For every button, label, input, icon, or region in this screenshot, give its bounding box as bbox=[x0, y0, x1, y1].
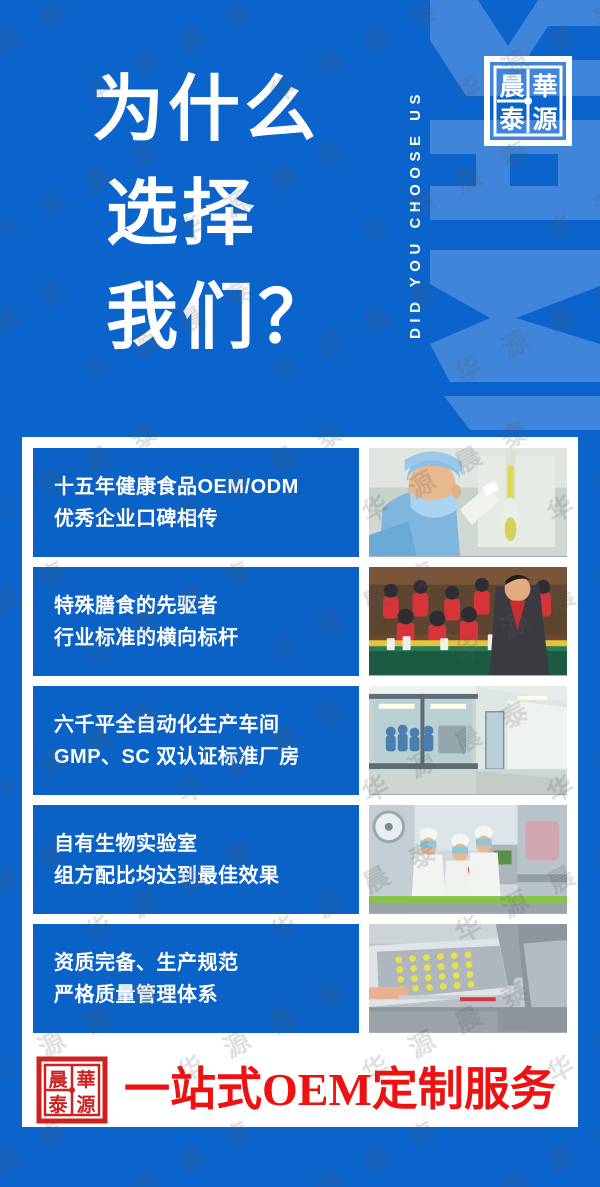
svg-text:晨: 晨 bbox=[499, 74, 525, 101]
feature-line-2: GMP、SC 双认证标准厂房 bbox=[54, 741, 359, 773]
features-list: 十五年健康食品OEM/ODM 优秀企业口碑相传 bbox=[33, 448, 567, 1033]
feature-row: 自有生物实验室 组方配比均达到最佳效果 bbox=[33, 805, 567, 914]
feature-text-card: 自有生物实验室 组方配比均达到最佳效果 bbox=[33, 805, 359, 914]
feature-line-2: 优秀企业口碑相传 bbox=[54, 503, 359, 535]
production-line-workers-photo bbox=[369, 805, 567, 914]
headline-line-1: 为什么 bbox=[92, 58, 392, 162]
svg-text:華: 華 bbox=[532, 73, 557, 101]
vertical-caption-text: DID YOU CHOOSE US bbox=[408, 89, 423, 339]
svg-text:晨: 晨 bbox=[48, 1069, 68, 1091]
watermark-text: 华 源 晨 泰 bbox=[0, 267, 81, 391]
feature-line-2: 组方配比均达到最佳效果 bbox=[54, 860, 359, 892]
feature-line-2: 严格质量管理体系 bbox=[54, 979, 359, 1011]
page-title: 为什么 选择 我们？ bbox=[92, 58, 392, 370]
features-panel: 十五年健康食品OEM/ODM 优秀企业口碑相传 bbox=[22, 437, 578, 1127]
bottom-banner: 晨 華 泰 源 一站式OEM定制服务 bbox=[22, 1052, 578, 1127]
conference-audience-photo bbox=[369, 567, 567, 676]
cleanroom-corridor-photo bbox=[369, 686, 567, 795]
watermark-text: 华 源 晨 泰 bbox=[0, 0, 81, 110]
vertical-caption: DID YOU CHOOSE US bbox=[402, 14, 428, 414]
feature-line-1: 六千平全自动化生产车间 bbox=[54, 709, 359, 741]
feature-line-1: 十五年健康食品OEM/ODM bbox=[54, 471, 359, 503]
svg-text:源: 源 bbox=[532, 106, 557, 134]
feature-row: 十五年健康食品OEM/ODM 优秀企业口碑相传 bbox=[33, 448, 567, 557]
svg-text:華: 華 bbox=[76, 1068, 95, 1091]
watermark-text: 华 源 晨 泰 bbox=[448, 267, 600, 391]
seal-icon-header: 晨 華 泰 源 bbox=[484, 55, 572, 147]
feature-line-2: 行业标准的横向标杆 bbox=[54, 622, 359, 654]
svg-text:泰: 泰 bbox=[47, 1093, 68, 1116]
feature-row: 六千平全自动化生产车间 GMP、SC 双认证标准厂房 bbox=[33, 686, 567, 795]
banner-title: 一站式OEM定制服务 bbox=[124, 1067, 556, 1113]
feature-text-card: 六千平全自动化生产车间 GMP、SC 双认证标准厂房 bbox=[33, 686, 359, 795]
tablet-packaging-machine-photo bbox=[369, 924, 567, 1033]
feature-line-1: 特殊膳食的先驱者 bbox=[54, 590, 359, 622]
seal-icon-banner: 晨 華 泰 源 bbox=[36, 1056, 108, 1124]
headline-line-3: 我们？ bbox=[92, 266, 392, 370]
feature-line-1: 自有生物实验室 bbox=[54, 828, 359, 860]
feature-text-card: 十五年健康食品OEM/ODM 优秀企业口碑相传 bbox=[33, 448, 359, 557]
feature-row: 特殊膳食的先驱者 行业标准的横向标杆 bbox=[33, 567, 567, 676]
feature-text-card: 资质完备、生产规范 严格质量管理体系 bbox=[33, 924, 359, 1033]
svg-text:源: 源 bbox=[76, 1093, 95, 1116]
feature-text-card: 特殊膳食的先驱者 行业标准的横向标杆 bbox=[33, 567, 359, 676]
svg-text:泰: 泰 bbox=[499, 106, 525, 134]
headline-line-2: 选择 bbox=[92, 162, 392, 266]
poster-root: DID YOU CHOOSE US 晨 華 泰 源 为什么 选择 我们？ 十五年… bbox=[0, 0, 600, 1187]
feature-row: 资质完备、生产规范 严格质量管理体系 bbox=[33, 924, 567, 1033]
feature-line-1: 资质完备、生产规范 bbox=[54, 947, 359, 979]
lab-technician-pipetting-photo bbox=[369, 448, 567, 557]
